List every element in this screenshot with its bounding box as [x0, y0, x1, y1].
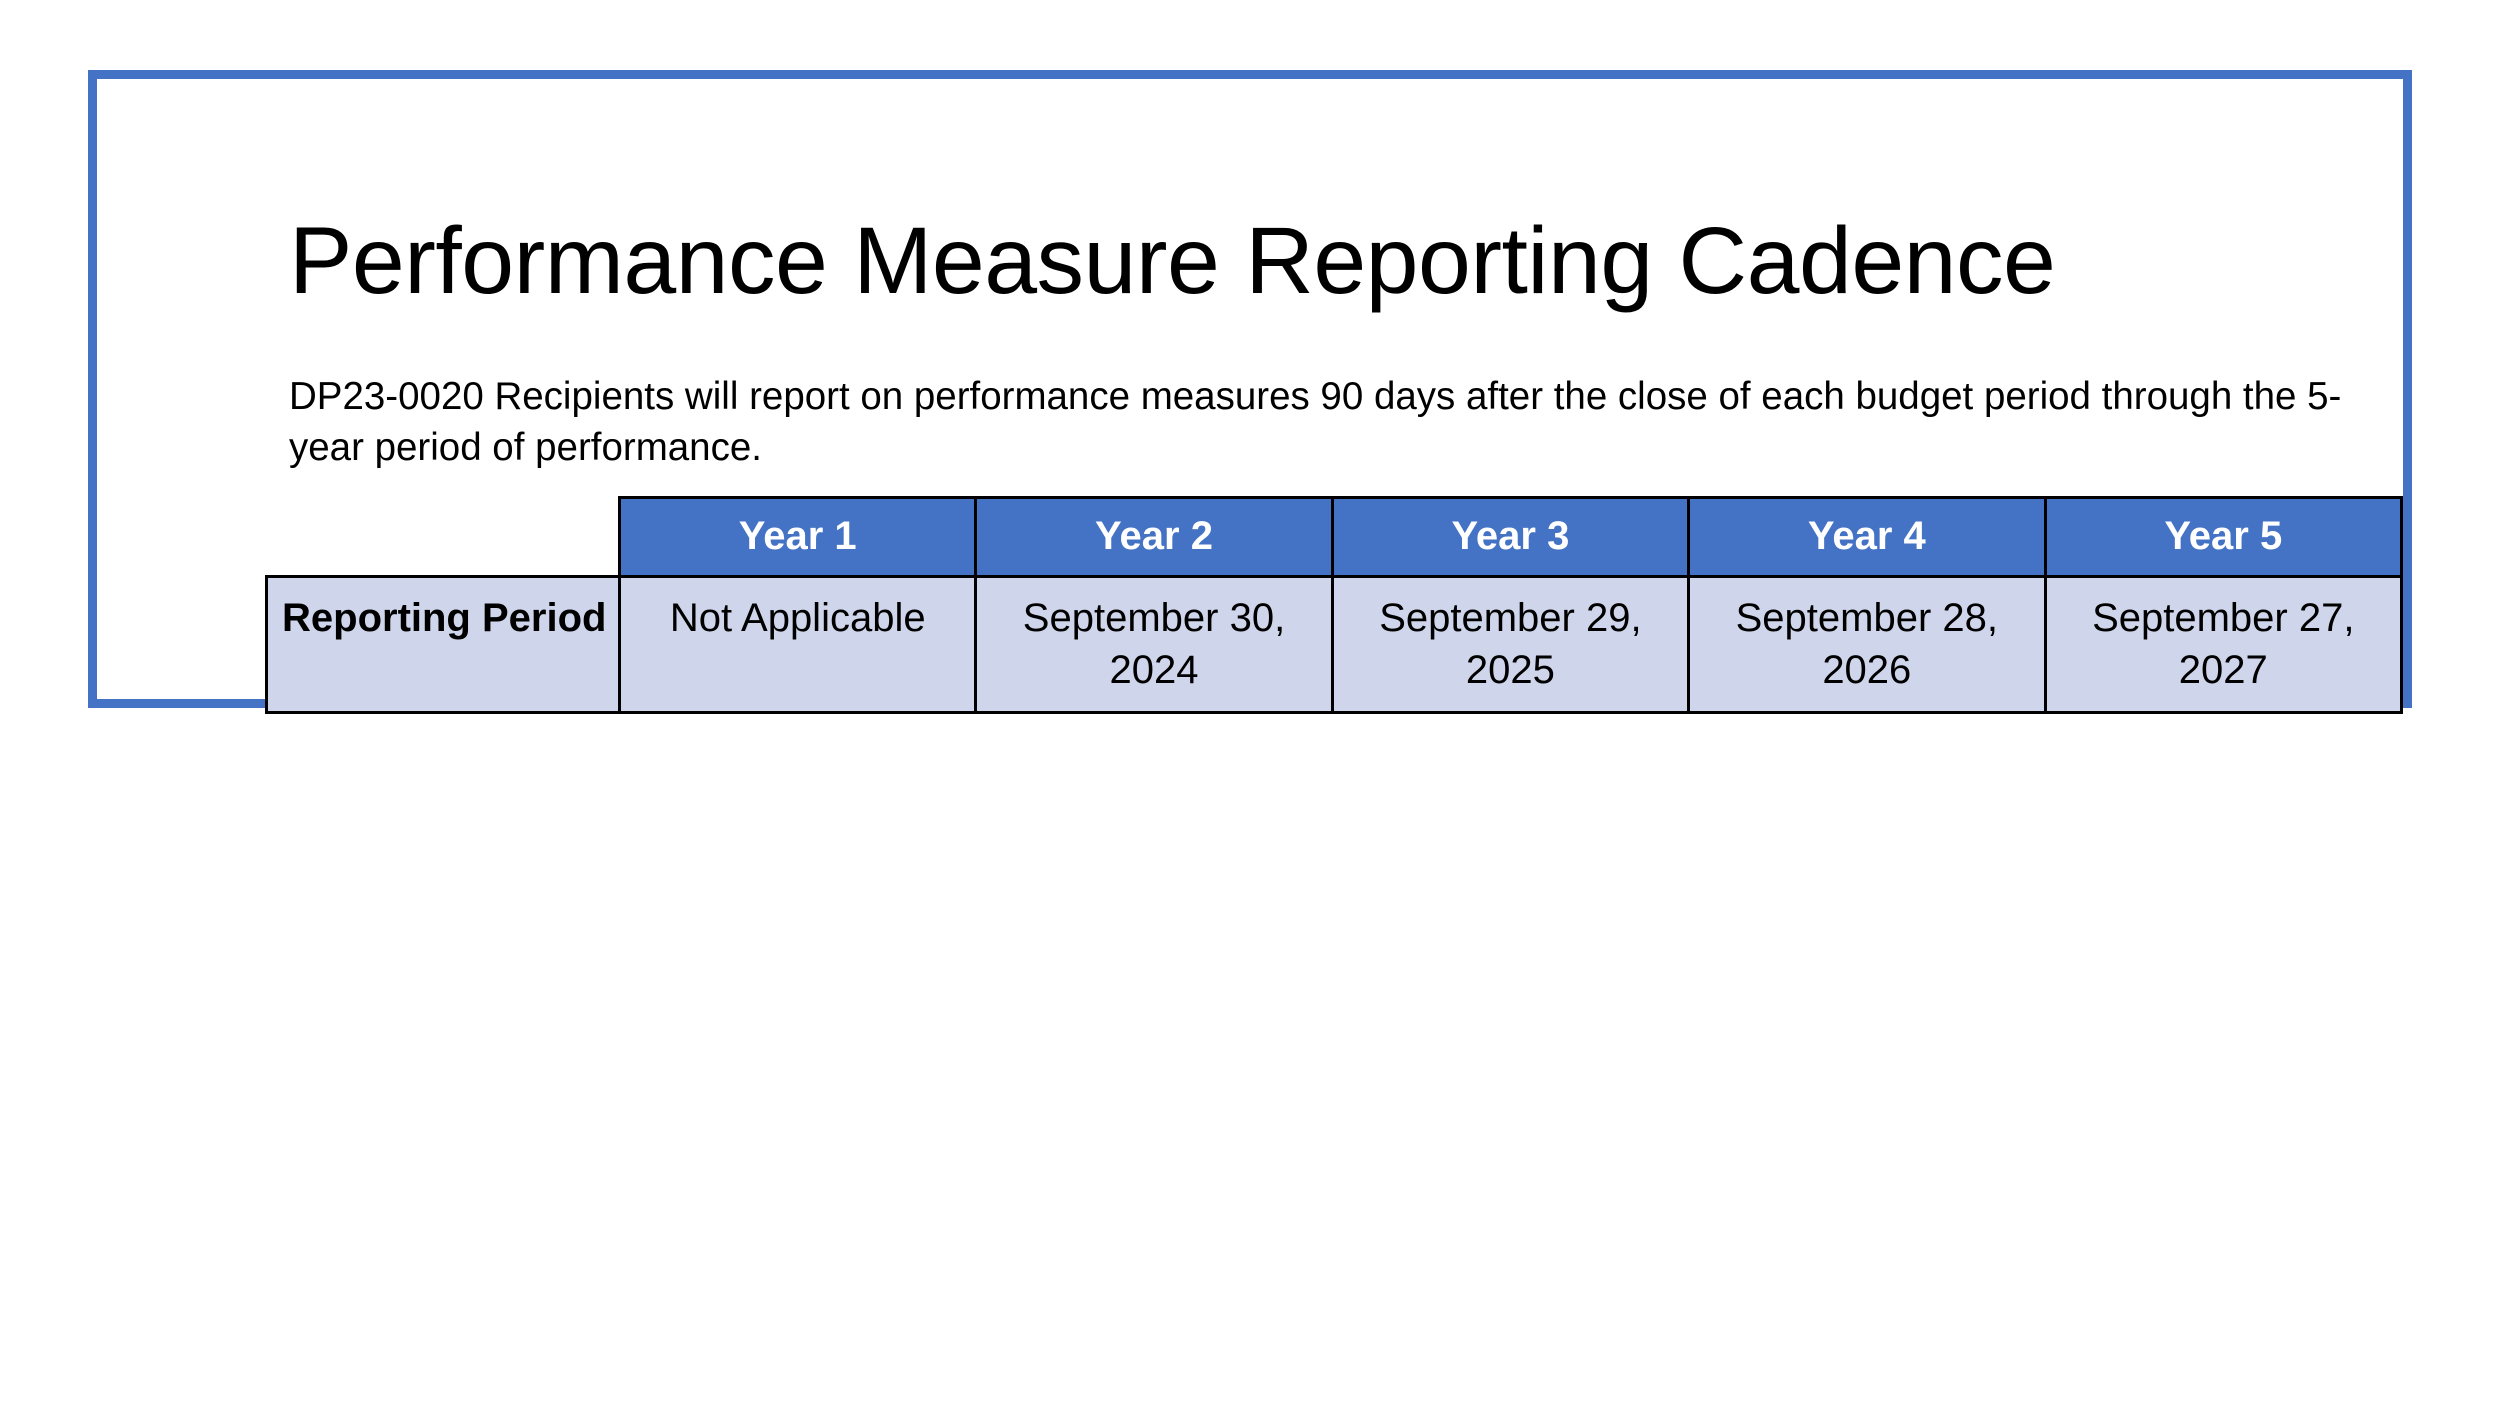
slide-body-text: DP23-0020 Recipients will report on perf…	[289, 371, 2359, 473]
slide-frame: Performance Measure Reporting Cadence DP…	[88, 70, 2412, 708]
cell-reporting-period-year-5: September 27, 2027	[2045, 576, 2401, 712]
column-header-year-5: Year 5	[2045, 498, 2401, 577]
cell-reporting-period-year-2: September 30, 2024	[976, 576, 1332, 712]
table-header-row: Year 1 Year 2 Year 3 Year 4 Year 5	[267, 498, 2402, 577]
reporting-cadence-table: Year 1 Year 2 Year 3 Year 4 Year 5 Repor…	[265, 496, 2403, 714]
column-header-year-1: Year 1	[620, 498, 976, 577]
table-corner-cell	[267, 498, 620, 577]
column-header-year-3: Year 3	[1332, 498, 1688, 577]
column-header-year-4: Year 4	[1689, 498, 2045, 577]
cell-reporting-period-year-3: September 29, 2025	[1332, 576, 1688, 712]
row-label-reporting-period: Reporting Period	[267, 576, 620, 712]
column-header-year-2: Year 2	[976, 498, 1332, 577]
table-row: Reporting Period Not Applicable Septembe…	[267, 576, 2402, 712]
page-title: Performance Measure Reporting Cadence	[289, 211, 2439, 312]
cell-reporting-period-year-1: Not Applicable	[620, 576, 976, 712]
cell-reporting-period-year-4: September 28, 2026	[1689, 576, 2045, 712]
